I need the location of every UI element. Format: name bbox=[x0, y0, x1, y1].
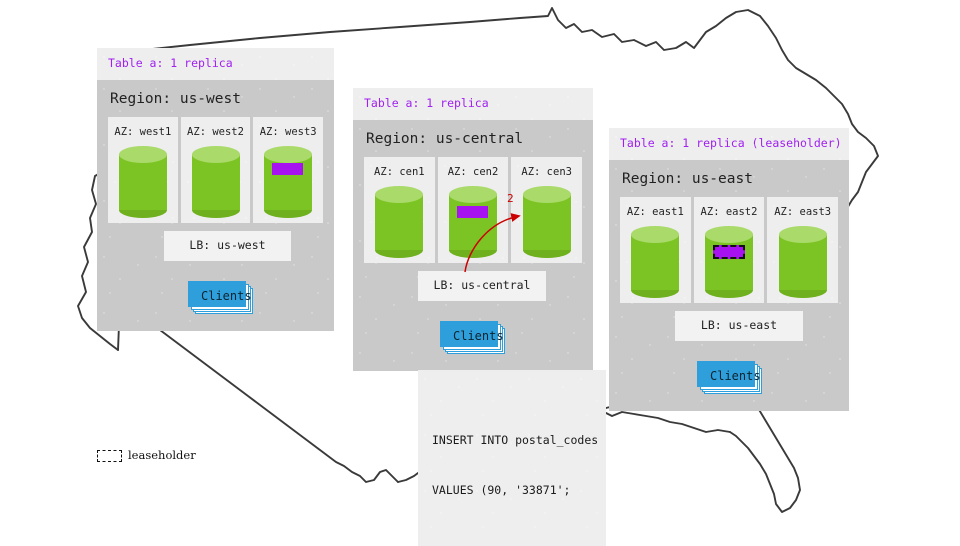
az-label-cen1: AZ: cen1 bbox=[374, 167, 425, 178]
diagram-canvas: Table a: 1 replica Region: us-west AZ: w… bbox=[0, 0, 960, 540]
az-box-east2[interactable]: AZ: east2 bbox=[694, 197, 765, 303]
az-label-east1: AZ: east1 bbox=[627, 207, 684, 218]
cylinder-top bbox=[192, 146, 240, 163]
sql-line-1: INSERT INTO postal_codes bbox=[432, 432, 592, 449]
clients-button-us-east[interactable]: Clients bbox=[697, 361, 755, 387]
az-label-west3: AZ: west3 bbox=[260, 127, 317, 138]
replica-block-west3[interactable] bbox=[272, 163, 303, 175]
node-cylinder-cen3[interactable] bbox=[523, 186, 571, 250]
node-cylinder-cen1[interactable] bbox=[375, 186, 423, 250]
node-cylinder-cen2[interactable] bbox=[449, 186, 497, 250]
sql-statement-box: INSERT INTO postal_codes VALUES (90, '33… bbox=[418, 370, 606, 546]
node-cylinder-east1[interactable] bbox=[631, 226, 679, 290]
az-label-west1: AZ: west1 bbox=[114, 127, 171, 138]
cylinder-top bbox=[631, 226, 679, 243]
region-header-us-east: Table a: 1 replica (leaseholder) bbox=[609, 128, 849, 160]
leaseholder-swatch-icon bbox=[97, 450, 122, 462]
az-label-west2: AZ: west2 bbox=[187, 127, 244, 138]
az-box-cen3[interactable]: AZ: cen3 bbox=[511, 157, 582, 263]
az-box-cen1[interactable]: AZ: cen1 bbox=[364, 157, 435, 263]
load-balancer-us-west[interactable]: LB: us-west bbox=[164, 231, 291, 261]
cylinder-top bbox=[523, 186, 571, 203]
az-row-us-east: AZ: east1 AZ: east2 bbox=[620, 197, 838, 303]
az-label-east2: AZ: east2 bbox=[701, 207, 758, 218]
region-header-us-central: Table a: 1 replica bbox=[353, 88, 593, 120]
node-cylinder-east2[interactable] bbox=[705, 226, 753, 290]
clients-us-east[interactable]: Clients bbox=[697, 361, 755, 387]
replica-block-cen2[interactable] bbox=[457, 206, 488, 218]
az-label-cen3: AZ: cen3 bbox=[521, 167, 572, 178]
az-box-cen2[interactable]: AZ: cen2 bbox=[438, 157, 509, 263]
node-cylinder-east3[interactable] bbox=[779, 226, 827, 290]
cylinder-top bbox=[375, 186, 423, 203]
cylinder-top bbox=[119, 146, 167, 163]
az-box-east1[interactable]: AZ: east1 bbox=[620, 197, 691, 303]
cylinder-top bbox=[779, 226, 827, 243]
load-balancer-us-central[interactable]: LB: us-central bbox=[418, 271, 546, 301]
sql-line-2: VALUES (90, '33871'; bbox=[432, 482, 592, 499]
replica-block-east2-leaseholder[interactable] bbox=[713, 245, 745, 259]
region-title-us-east: Region: us-east bbox=[609, 160, 849, 198]
node-cylinder-west2[interactable] bbox=[192, 146, 240, 210]
arrow-step-label-2: 2 bbox=[507, 193, 514, 204]
az-box-west3[interactable]: AZ: west3 bbox=[253, 117, 323, 223]
node-cylinder-west1[interactable] bbox=[119, 146, 167, 210]
load-balancer-us-east[interactable]: LB: us-east bbox=[675, 311, 803, 341]
az-box-east3[interactable]: AZ: east3 bbox=[767, 197, 838, 303]
az-label-cen2: AZ: cen2 bbox=[448, 167, 499, 178]
cylinder-top bbox=[705, 226, 753, 243]
node-cylinder-west3[interactable] bbox=[264, 146, 312, 210]
az-box-west1[interactable]: AZ: west1 bbox=[108, 117, 178, 223]
region-header-us-west: Table a: 1 replica bbox=[97, 48, 334, 80]
texture-overlay bbox=[418, 370, 606, 546]
region-title-us-central: Region: us-central bbox=[353, 120, 593, 158]
clients-button-us-west[interactable]: Clients bbox=[188, 281, 246, 307]
legend-leaseholder: leaseholder bbox=[97, 450, 196, 462]
clients-button-us-central[interactable]: Clients bbox=[440, 321, 498, 347]
az-box-west2[interactable]: AZ: west2 bbox=[181, 117, 251, 223]
table-replica-label: Table a: 1 replica bbox=[364, 96, 489, 110]
az-row-us-central: AZ: cen1 AZ: cen2 bbox=[364, 157, 582, 263]
cylinder-top bbox=[449, 186, 497, 203]
az-label-east3: AZ: east3 bbox=[774, 207, 831, 218]
table-replica-label: Table a: 1 replica bbox=[108, 56, 233, 70]
clients-us-central[interactable]: Clients bbox=[440, 321, 498, 347]
clients-us-west[interactable]: Clients bbox=[188, 281, 246, 307]
cylinder-top bbox=[264, 146, 312, 163]
legend-label: leaseholder bbox=[128, 450, 196, 462]
table-replica-label: Table a: 1 replica (leaseholder) bbox=[620, 136, 842, 150]
region-title-us-west: Region: us-west bbox=[97, 80, 334, 118]
az-row-us-west: AZ: west1 AZ: west2 bbox=[108, 117, 323, 223]
